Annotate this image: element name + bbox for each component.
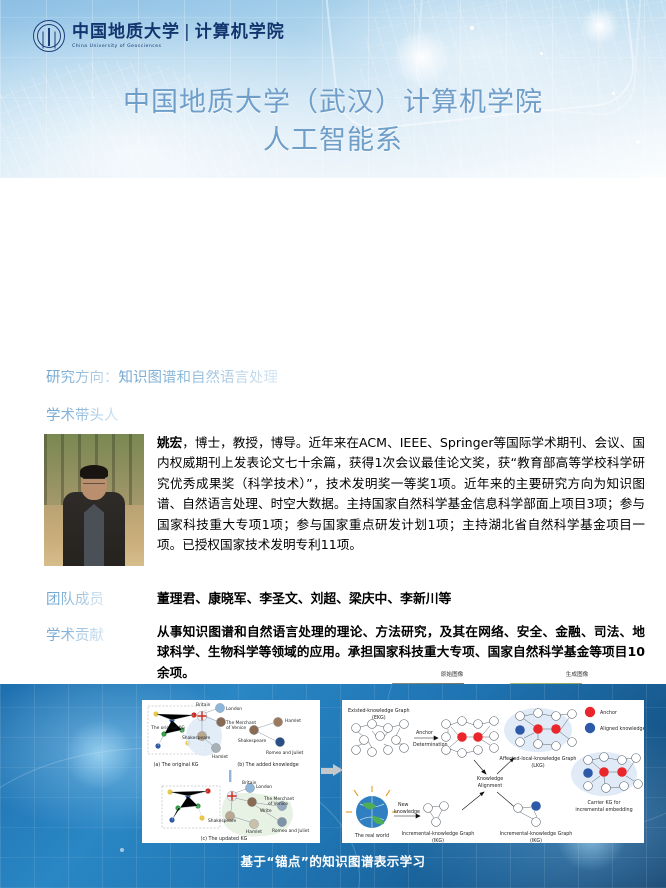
svg-text:Hamlet: Hamlet: [246, 829, 262, 835]
svg-text:The real world: The real world: [354, 833, 389, 839]
svg-text:Incremental-knowledge Graph: Incremental-knowledge Graph: [500, 831, 573, 837]
svg-text:Knowledge: Knowledge: [477, 776, 503, 782]
svg-text:Anchor: Anchor: [600, 710, 617, 716]
svg-text:Existed-knowledge Graph: Existed-knowledge Graph: [348, 708, 410, 714]
svg-text:(IKG): (IKG): [530, 838, 542, 843]
page-title: 中国地质大学（武汉）计算机学院 人工智能系: [0, 84, 666, 161]
kg-update-diagram: The original KG Britain London The Merch…: [142, 700, 320, 843]
header-dot-1: [470, 26, 474, 30]
svg-text:Write: Write: [260, 808, 272, 814]
kg-update-svg: The original KG Britain London The Merch…: [142, 700, 320, 843]
bird-figure-headers: 原始图像 生成图像: [392, 670, 642, 678]
svg-text:Hamlet: Hamlet: [285, 718, 301, 724]
photo-person-glasses-icon: [83, 478, 105, 484]
leader-bio-text: ，博士，教授，博导。近年来在ACM、IEEE、Springer等国际学术期刊、会…: [157, 435, 645, 552]
logo-university-name: 中国地质大学: [72, 22, 180, 42]
research-direction-value: 知识图谱和自然语言处理: [119, 370, 279, 386]
svg-text:(b) The added knowledge: (b) The added knowledge: [237, 762, 298, 768]
legend-anchor-swatch: [585, 707, 595, 717]
svg-text:Shakespeare: Shakespeare: [238, 738, 267, 744]
svg-text:Shakespeare: Shakespeare: [208, 818, 237, 824]
svg-text:(LKG): (LKG): [531, 763, 544, 769]
bottom-glow-1: [64, 720, 134, 790]
svg-text:(a) The original KG: (a) The original KG: [154, 762, 199, 768]
header-glow-2: [580, 6, 620, 46]
photo-person-hair: [80, 465, 108, 478]
leader-photo: [44, 434, 144, 566]
research-direction-label: 研究方向：: [46, 370, 119, 386]
logo-chinese-name: 中国地质大学|计算机学院: [72, 23, 285, 42]
leader-name: 姚宏: [157, 435, 182, 450]
svg-text:Hamlet: Hamlet: [212, 754, 228, 760]
anchor-kg-embedding-diagram: Existed-knowledge Graph (EKG) Anchor Det…: [342, 700, 644, 843]
logo-separator: |: [180, 22, 195, 42]
research-direction-row: 研究方向：知识图谱和自然语言处理: [46, 366, 278, 387]
svg-text:Carrier KG for: Carrier KG for: [588, 800, 621, 806]
svg-text:Anchor: Anchor: [416, 730, 433, 736]
svg-text:Romeo and Juliet: Romeo and Juliet: [272, 828, 309, 834]
svg-text:knowledge: knowledge: [394, 809, 420, 815]
logo-english-name: China University of Geosciences: [72, 44, 285, 49]
svg-text:Incremental-knowledge Graph: Incremental-knowledge Graph: [402, 831, 475, 837]
team-members-label: 团队成员: [46, 588, 104, 609]
logo-text: 中国地质大学|计算机学院 China University of Geoscie…: [72, 23, 285, 48]
svg-text:(c) The updated KG: (c) The updated KG: [201, 836, 248, 842]
svg-text:of Venice: of Venice: [268, 801, 288, 807]
leader-biography: 姚宏，博士，教授，博导。近年来在ACM、IEEE、Springer等国际学术期刊…: [157, 433, 645, 555]
team-members-value: 董理君、康晓军、李圣文、刘超、梁庆中、李新川等: [157, 588, 451, 607]
page-header: 中国地质大学|计算机学院 China University of Geoscie…: [0, 0, 666, 178]
svg-text:London: London: [256, 784, 272, 790]
bird-header-generated: 生成图像: [512, 670, 642, 678]
legend-aligned-swatch: [585, 723, 595, 733]
svg-text:incremental embedding: incremental embedding: [575, 807, 632, 813]
academic-leader-label: 学术带头人: [46, 404, 119, 425]
university-logo: 中国地质大学|计算机学院 China University of Geoscie…: [33, 20, 285, 52]
svg-text:Shakespeare: Shakespeare: [182, 735, 211, 741]
page-title-line-2: 人工智能系: [0, 122, 666, 160]
svg-text:London: London: [226, 706, 242, 712]
diagram-flow-arrow-icon: [321, 764, 343, 776]
svg-text:(IKG): (IKG): [432, 838, 444, 843]
academic-contribution-label: 学术贡献: [46, 624, 104, 645]
svg-text:New: New: [398, 802, 409, 808]
svg-text:Romeo and Juliet: Romeo and Juliet: [266, 750, 303, 756]
university-seal-icon: [33, 20, 65, 52]
svg-text:Britain: Britain: [196, 702, 211, 708]
svg-text:of Venice: of Venice: [226, 725, 246, 731]
svg-text:Alignment: Alignment: [478, 783, 503, 789]
header-glow-1: [392, 28, 452, 88]
logo-school-name: 计算机学院: [195, 22, 285, 42]
svg-text:Aligned knowledge: Aligned knowledge: [600, 726, 644, 732]
svg-text:Britain: Britain: [242, 780, 257, 786]
svg-text:The original KG: The original KG: [150, 725, 185, 731]
bird-header-original: 原始图像: [392, 670, 512, 678]
photo-person-shirt: [84, 504, 104, 566]
header-dot-2: [540, 52, 543, 55]
page-title-line-1: 中国地质大学（武汉）计算机学院: [123, 87, 543, 118]
anchor-kg-svg: Existed-knowledge Graph (EKG) Anchor Det…: [342, 700, 644, 843]
figure-caption-anchor-kg: 基于“锚点”的知识图谱表示学习: [0, 851, 666, 870]
